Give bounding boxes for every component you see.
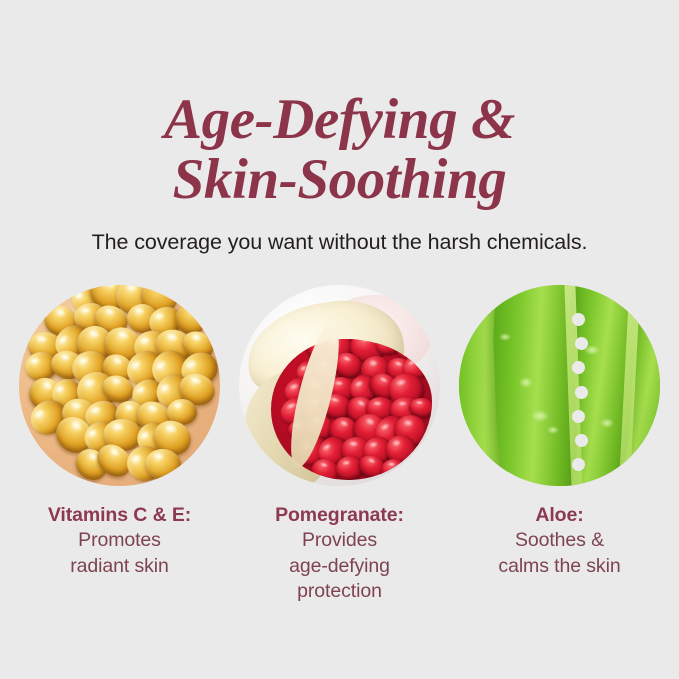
ingredient-body-line: Promotes	[18, 528, 221, 554]
ingredient-column-pomegranate: Pomegranate: Provides age-defying protec…	[238, 285, 441, 645]
ingredient-label: Aloe:	[458, 502, 661, 528]
aloe-leaves-photo	[459, 285, 660, 486]
ingredient-caption-vitamins: Vitamins C & E: Promotes radiant skin	[18, 502, 221, 579]
ingredient-label: Pomegranate:	[238, 502, 441, 528]
pomegranate-photo	[239, 285, 440, 486]
page-title-line-1: Age-Defying &	[0, 90, 679, 150]
ingredient-caption-pomegranate: Pomegranate: Provides age-defying protec…	[238, 502, 441, 605]
aloe-leaf-tooth	[572, 361, 585, 374]
ingredient-caption-aloe: Aloe: Soothes & calms the skin	[458, 502, 661, 579]
ingredient-body-line: age-defying	[238, 554, 441, 580]
aloe-leaf-speckle	[519, 377, 533, 387]
aloe-leaf-tooth	[572, 458, 585, 471]
ingredient-column-aloe: Aloe: Soothes & calms the skin	[458, 285, 661, 645]
page-subtitle: The coverage you want without the harsh …	[0, 228, 679, 256]
aloe-leaf-speckle	[547, 426, 559, 434]
aloe-leaf-tooth	[575, 386, 588, 399]
aloe-leaf-speckle	[600, 418, 614, 428]
product-benefits-panel: Age-Defying & Skin-Soothing The coverage…	[0, 0, 679, 679]
ingredient-body-line: protection	[238, 579, 441, 605]
ingredient-body-line: Soothes &	[458, 528, 661, 554]
ingredient-body-line: calms the skin	[458, 554, 661, 580]
aloe-leaf-tooth	[575, 434, 588, 447]
ingredient-label: Vitamins C & E:	[18, 502, 221, 528]
ingredient-body-line: radiant skin	[18, 554, 221, 580]
ingredient-columns: Vitamins C & E: Promotes radiant skin Po…	[0, 285, 679, 645]
ingredient-body-line: Provides	[238, 528, 441, 554]
page-title-line-2: Skin-Soothing	[0, 150, 679, 210]
ingredient-column-vitamins: Vitamins C & E: Promotes radiant skin	[18, 285, 221, 645]
vitamin-capsules-photo	[19, 285, 220, 486]
aloe-leaf-tooth	[572, 313, 585, 326]
aloe-leaf-tooth	[572, 410, 585, 423]
page-title: Age-Defying & Skin-Soothing	[0, 90, 679, 210]
aloe-leaf-speckle	[531, 410, 549, 422]
